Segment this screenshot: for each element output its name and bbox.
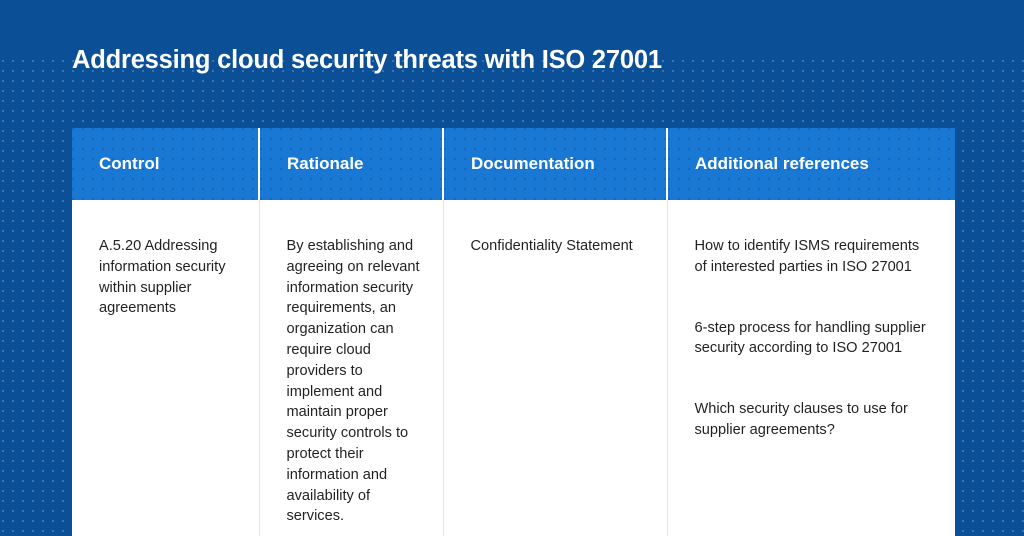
reference-item-2[interactable]: 6-step process for handling supplier sec… (695, 318, 934, 360)
page: Addressing cloud security threats with I… (0, 0, 1024, 536)
page-title: Addressing cloud security threats with I… (72, 46, 662, 75)
reference-item-3[interactable]: Which security clauses to use for suppli… (695, 399, 934, 441)
column-header-additional-references-label: Additional references (695, 154, 869, 173)
column-header-documentation: Documentation (443, 128, 667, 200)
rationale-paragraph-1: By establishing and agreeing on relevant… (287, 236, 421, 527)
cell-rationale: By establishing and agreeing on relevant… (259, 200, 443, 536)
column-header-rationale: Rationale (259, 128, 443, 200)
column-header-control: Control (72, 128, 259, 200)
cell-additional-references: How to identify ISMS requirements of int… (667, 200, 955, 536)
column-header-rationale-label: Rationale (287, 154, 364, 173)
reference-item-1[interactable]: How to identify ISMS requirements of int… (695, 236, 934, 278)
cell-documentation: Confidentiality Statement (443, 200, 667, 536)
column-header-control-label: Control (99, 154, 159, 173)
documentation-text: Confidentiality Statement (471, 236, 645, 257)
controls-table: Control Rationale Documentation Addition… (72, 128, 955, 536)
cell-control: A.5.20 Addressing information security w… (72, 200, 259, 536)
table-row: A.5.20 Addressing information security w… (72, 200, 955, 536)
column-header-additional-references: Additional references (667, 128, 955, 200)
table-header-row: Control Rationale Documentation Addition… (72, 128, 955, 200)
table-body: A.5.20 Addressing information security w… (72, 200, 955, 536)
control-text: A.5.20 Addressing information security w… (99, 236, 237, 319)
controls-table-container: Control Rationale Documentation Addition… (72, 128, 955, 536)
column-header-documentation-label: Documentation (471, 154, 595, 173)
table-header: Control Rationale Documentation Addition… (72, 128, 955, 200)
